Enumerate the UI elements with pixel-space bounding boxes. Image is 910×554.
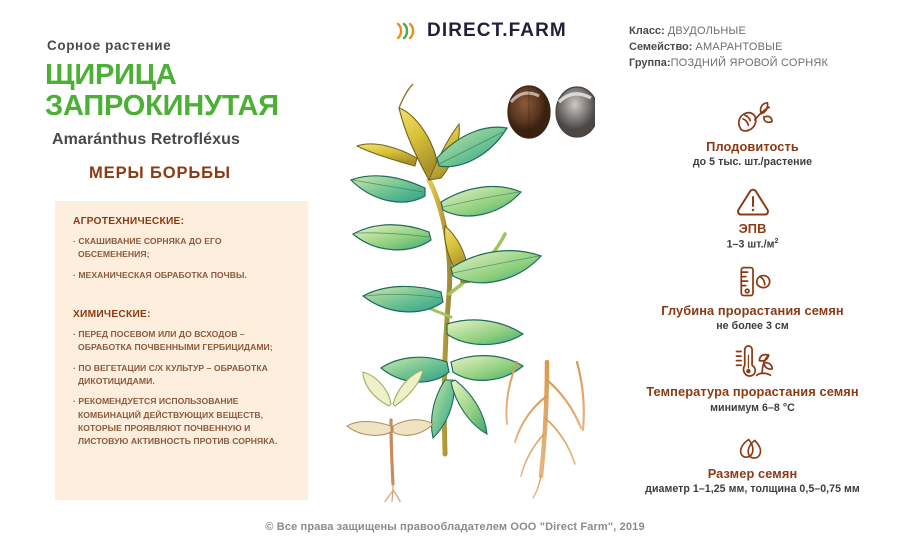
- taxonomy-value: ПОЗДНИЙ ЯРОВОЙ СОРНЯК: [671, 57, 829, 69]
- page-title-line1: ЩИРИЦА: [45, 60, 335, 91]
- thermometer-sprout-icon: [595, 337, 910, 381]
- taxonomy-value: ДВУДОЛЬНЫЕ: [668, 25, 746, 37]
- taxonomy-row-family: Семейство: АМАРАНТОВЫЕ: [629, 40, 828, 56]
- left-column: Сорное растение ЩИРИЦА ЗАПРОКИНУТАЯ Amar…: [0, 0, 333, 512]
- seed-closeup-brown: [508, 86, 550, 138]
- fact-label: Температура прорастания семян: [595, 385, 910, 399]
- fact-label: Глубина прорастания семян: [595, 304, 910, 318]
- measures-item: · ПО ВЕГЕТАЦИИ С/Х КУЛЬТУР – ОБРАБОТКА Д…: [73, 362, 292, 389]
- measures-item: · МЕХАНИЧЕСКАЯ ОБРАБОТКА ПОЧВЫ.: [73, 269, 292, 282]
- direct-farm-chevrons-icon: [396, 20, 418, 42]
- seedling: [347, 370, 433, 502]
- warning-triangle-icon: [595, 174, 910, 218]
- fact-fertility: Плодовитость до 5 тыс. шт./растение: [595, 92, 910, 170]
- fact-epv: ЭПВ 1–3 шт./м2: [595, 174, 910, 252]
- fact-value-superscript: 2: [774, 238, 778, 245]
- sprouting-seed-icon: [595, 92, 910, 136]
- fact-value: до 5 тыс. шт./растение: [595, 156, 910, 169]
- measures-item: · СКАШИВАНИЕ СОРНЯКА ДО ЕГО ОБСЕМЕНЕНИЯ;: [73, 235, 292, 262]
- fact-value: минимум 6–8 °C: [595, 402, 910, 415]
- two-seeds-icon: [595, 419, 910, 463]
- infographic-page: Сорное растение ЩИРИЦА ЗАПРОКИНУТАЯ Amar…: [0, 0, 910, 554]
- measures-heading: МЕРЫ БОРЬБЫ: [0, 164, 320, 183]
- kicker-label: Сорное растение: [47, 38, 171, 53]
- fact-label: Плодовитость: [595, 140, 910, 154]
- taxonomy-key: Семейство:: [629, 41, 692, 53]
- copyright-footer: © Все права защищены правообладателем ОО…: [0, 521, 910, 533]
- brand-logo-text: DIRECT.FARM: [427, 20, 567, 42]
- fact-seed-size: Размер семян диаметр 1–1,25 мм, толщина …: [595, 419, 910, 497]
- leaves-mid: [363, 251, 541, 345]
- right-column: Класс: ДВУДОЛЬНЫЕ Семейство: АМАРАНТОВЫЕ…: [595, 0, 910, 512]
- fact-value: 1–3 шт./м2: [595, 238, 910, 252]
- fact-label: Размер семян: [595, 467, 910, 481]
- fact-seed-temperature: Температура прорастания семян минимум 6–…: [595, 337, 910, 415]
- fact-label: ЭПВ: [595, 222, 910, 236]
- fact-value-text: 1–3 шт./м: [727, 238, 775, 250]
- taxonomy-key: Группа:: [629, 57, 671, 69]
- latin-name: Amaránthus Retrofléxus: [52, 131, 240, 149]
- measures-item: · ПЕРЕД ПОСЕВОМ ИЛИ ДО ВСХОДОВ – ОБРАБОТ…: [73, 328, 292, 355]
- measures-group-heading-agrotechnical: АГРОТЕХНИЧЕСКИЕ:: [73, 216, 292, 227]
- page-title: ЩИРИЦА ЗАПРОКИНУТАЯ: [45, 60, 335, 122]
- brand-logo[interactable]: DIRECT.FARM: [396, 20, 567, 42]
- plant-illustration: [333, 62, 595, 502]
- measures-group-heading-chemical: ХИМИЧЕСКИЕ:: [73, 309, 292, 320]
- page-title-line2: ЗАПРОКИНУТАЯ: [45, 91, 335, 122]
- measures-box: АГРОТЕХНИЧЕСКИЕ: · СКАШИВАНИЕ СОРНЯКА ДО…: [55, 201, 308, 500]
- facts-list: Плодовитость до 5 тыс. шт./растение ЭПВ …: [595, 92, 910, 500]
- taxonomy-value: АМАРАНТОВЫЕ: [696, 41, 783, 53]
- ruler-seed-icon: [595, 256, 910, 300]
- seed-closeup-grey: [556, 87, 595, 137]
- root-system: [506, 362, 583, 498]
- fact-value: диаметр 1–1,25 мм, толщина 0,5–0,75 мм: [595, 483, 910, 496]
- taxonomy-key: Класс:: [629, 25, 665, 37]
- taxonomy-row-group: Группа:ПОЗДНИЙ ЯРОВОЙ СОРНЯК: [629, 56, 828, 72]
- measures-item: · РЕКОМЕНДУЕТСЯ ИСПОЛЬЗОВАНИЕ КОМБИНАЦИЙ…: [73, 395, 292, 448]
- fact-value: не более 3 см: [595, 320, 910, 333]
- taxonomy-row-class: Класс: ДВУДОЛЬНЫЕ: [629, 24, 828, 40]
- taxonomy-block: Класс: ДВУДОЛЬНЫЕ Семейство: АМАРАНТОВЫЕ…: [629, 24, 828, 72]
- fact-seed-depth: Глубина прорастания семян не более 3 см: [595, 256, 910, 334]
